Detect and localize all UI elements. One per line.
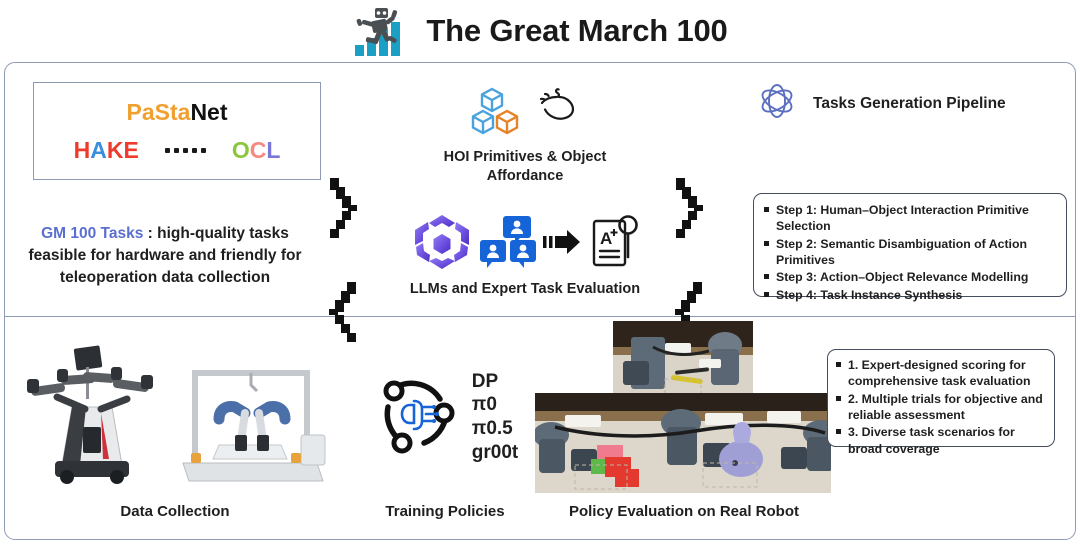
ocl-letter-l: L — [266, 137, 280, 163]
training-policies-caption: Training Policies — [345, 503, 545, 520]
hake-letter-h: H — [74, 137, 91, 163]
atom-orbital-icon — [757, 81, 797, 126]
chat-bubbles-people-icon — [480, 214, 536, 275]
chevron-right-2-icon — [673, 175, 709, 252]
policy-item-pi0: π0 — [472, 393, 518, 417]
pastanet-name-part1: PaSta — [127, 99, 191, 125]
evaluation-points-list: 1. Expert-designed scoring for comprehen… — [836, 357, 1045, 457]
gm-tasks-text: GM 100 Tasks : high-quality tasks feasib… — [15, 223, 315, 289]
hake-letter-e: E — [123, 137, 138, 163]
page-title: The Great March 100 — [426, 13, 727, 49]
ocl-logo: OCL — [232, 137, 281, 164]
hake-letter-k: K — [107, 137, 124, 163]
policy-item-dp: DP — [472, 370, 518, 394]
pastanet-box: PaStaNet HAKE OCL — [33, 82, 321, 180]
ai-model-logo-icon — [411, 213, 473, 276]
diagram-frame: PaStaNet HAKE OCL GM 100 Tasks : high-qu… — [4, 62, 1076, 540]
evaluation-point-2: 2. Multiple trials for objective and rel… — [836, 391, 1045, 424]
policy-item-gr00t: gr00t — [472, 441, 518, 465]
dataset-logos-row: HAKE OCL — [74, 137, 281, 164]
hake-logo: HAKE — [74, 137, 139, 164]
pipeline-step-2: Step 2: Semantic Disambiguation of Actio… — [764, 236, 1054, 269]
hake-letter-a: A — [90, 137, 107, 163]
policy-evaluation-images — [535, 321, 831, 493]
llm-icons-group: A — [411, 213, 640, 275]
data-collection-caption: Data Collection — [17, 503, 333, 520]
upper-panel: PaStaNet HAKE OCL GM 100 Tasks : high-qu… — [5, 63, 1075, 316]
training-policies-block: DP π0 π0.5 gr00t — [353, 347, 539, 487]
hoi-primitives-block: HOI Primitives & Object Affordance — [405, 85, 645, 186]
arrow-right-icon — [543, 227, 581, 262]
policy-item-pi05: π0.5 — [472, 417, 518, 441]
pointing-hand-icon — [536, 85, 580, 130]
svg-text:A: A — [600, 229, 612, 248]
mobile-dual-arm-robot-photo — [17, 335, 167, 493]
brain-circuit-icon — [374, 373, 458, 462]
hoi-label: HOI Primitives & Object Affordance — [444, 148, 607, 186]
policy-list: DP π0 π0.5 gr00t — [472, 370, 518, 464]
pipeline-step-3: Step 3: Action–Object Relevance Modellin… — [764, 269, 1054, 285]
ellipsis-dots — [165, 148, 206, 153]
pipeline-header: Tasks Generation Pipeline — [757, 81, 1006, 126]
policy-evaluation-caption: Policy Evaluation on Real Robot — [529, 503, 839, 520]
llm-label: LLMs and Expert Task Evaluation — [410, 281, 640, 297]
evaluation-point-1: 1. Expert-designed scoring for comprehen… — [836, 357, 1045, 390]
ocl-letter-o: O — [232, 137, 250, 163]
pastanet-title: PaStaNet — [127, 99, 228, 126]
data-collection-images — [17, 335, 333, 493]
hoi-icons-group — [470, 85, 580, 141]
evaluation-point-3: 3. Diverse task scenarios for broad cove… — [836, 424, 1045, 457]
hoi-label-line2: Affordance — [444, 167, 607, 186]
graded-paper-magnifier-icon: A — [588, 213, 640, 276]
page-title-bar: The Great March 100 — [0, 0, 1080, 62]
pipeline-steps-box: Step 1: Human–Object Interaction Primiti… — [753, 193, 1067, 297]
lower-panel: Data Collection — [5, 317, 1075, 541]
pipeline-step-1: Step 1: Human–Object Interaction Primiti… — [764, 202, 1054, 235]
ocl-letter-c: C — [250, 137, 267, 163]
running-robot-bar-chart-icon — [352, 5, 412, 57]
gm-tasks-accent-label: GM 100 Tasks — [41, 225, 143, 242]
pipeline-step-4: Step 4: Task Instance Synthesis — [764, 287, 1054, 303]
hoi-label-line1: HOI Primitives & Object — [444, 148, 607, 167]
robot-blocks-tabletop-photo — [535, 393, 831, 493]
cubes-icon — [470, 85, 528, 144]
pipeline-steps-list: Step 1: Human–Object Interaction Primiti… — [764, 202, 1054, 303]
pipeline-title: Tasks Generation Pipeline — [813, 95, 1006, 113]
llm-evaluation-block: A LLMs and Expert Task Evaluation — [375, 213, 675, 297]
chevron-right-1-icon — [327, 175, 363, 252]
evaluation-points-box: 1. Expert-designed scoring for comprehen… — [827, 349, 1055, 447]
pastanet-name-part2: Net — [190, 99, 227, 125]
bimanual-teleop-rig-photo — [173, 349, 331, 507]
